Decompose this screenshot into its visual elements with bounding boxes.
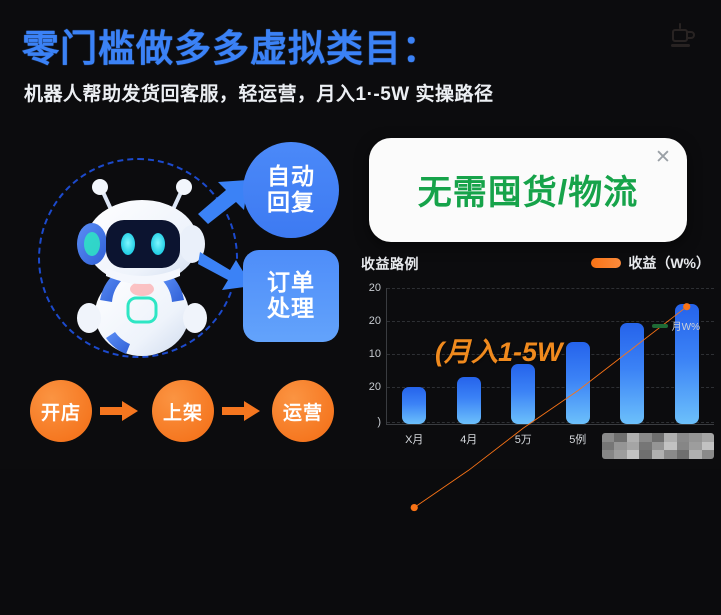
callout-order-line1: 订单: [267, 270, 315, 296]
flow-step-open-shop[interactable]: 开店: [30, 380, 92, 442]
callout-auto-reply-line2: 回复: [267, 190, 315, 216]
censored-mosaic-block: [602, 433, 714, 459]
poster-canvas: 零门槛做多多虚拟类目： 机器人帮助发货回客服，轻运营，月入1·-5W 实操路径: [0, 0, 721, 469]
arrow-right-icon: [222, 399, 262, 423]
mosaic-tile: [652, 442, 664, 451]
x-axis-tick-label: X月: [405, 431, 423, 447]
mosaic-tile: [652, 433, 664, 442]
callout-auto-reply[interactable]: 自动 回复: [243, 142, 339, 238]
x-axis-tick-label: 5例: [569, 431, 586, 447]
endpoint-dash-marker: [652, 324, 668, 328]
mosaic-tile: [677, 450, 689, 459]
flow-step-open-shop-label: 开店: [41, 398, 81, 425]
flow-step-list-product[interactable]: 上架: [152, 380, 214, 442]
callout-order-line2: 处理: [267, 296, 315, 322]
chart-plot-area: 20201020) X月4月5万5例变现 (月入1-5W 月W%: [386, 288, 714, 425]
mosaic-tile: [664, 433, 676, 442]
flow-step-operate[interactable]: 运营: [272, 380, 334, 442]
page-subtitle: 机器人帮助发货回客服，轻运营，月入1·-5W 实操路径: [24, 79, 494, 106]
mosaic-tile: [602, 450, 614, 459]
mosaic-tile: [664, 442, 676, 451]
mosaic-tile: [614, 442, 626, 451]
endpoint-annotation-text: 月W%: [672, 318, 700, 333]
page-title: 零门槛做多多虚拟类目：: [22, 18, 440, 72]
y-axis-tick-label: 20: [369, 315, 381, 327]
callout-order-processing[interactable]: 订单 处理: [243, 250, 339, 342]
mosaic-tile: [677, 442, 689, 451]
close-icon[interactable]: ✕: [652, 146, 674, 168]
legend-label-revenue: 收益（W%）: [628, 253, 710, 273]
chart-annotation-income: (月入1-5W: [435, 330, 563, 369]
mosaic-tile: [702, 450, 714, 459]
x-axis-tick-label: 5万: [515, 431, 532, 447]
promo-card: 无需囤货/物流 ✕: [369, 138, 687, 242]
y-axis-tick-label: 10: [369, 348, 381, 360]
legend-swatch-revenue: [591, 258, 621, 268]
mosaic-tile: [627, 433, 639, 442]
mosaic-tile: [702, 442, 714, 451]
mosaic-tile: [614, 450, 626, 459]
y-axis-tick-label: 20: [369, 381, 381, 393]
mosaic-tile: [602, 433, 614, 442]
chart-title: 收益路例: [361, 254, 419, 274]
mosaic-tile: [639, 433, 651, 442]
chart-endpoint-annotation: 月W%: [652, 318, 700, 333]
mosaic-tile: [652, 450, 664, 459]
promo-card-text: 无需囤货/物流: [369, 165, 687, 214]
mosaic-tile: [689, 450, 701, 459]
trend-point: [411, 504, 418, 511]
mosaic-tile: [677, 433, 689, 442]
coffee-cup-icon: [665, 20, 699, 54]
mosaic-tile: [702, 433, 714, 442]
flow-step-list-product-label: 上架: [163, 398, 203, 425]
mosaic-tile: [627, 442, 639, 451]
mosaic-tile: [664, 450, 676, 459]
mosaic-tile: [614, 433, 626, 442]
mosaic-tile: [639, 450, 651, 459]
flow-step-operate-label: 运营: [283, 398, 323, 425]
trend-point: [683, 303, 690, 310]
mosaic-tile: [689, 433, 701, 442]
chart-legend: 收益（W%）: [591, 253, 710, 273]
x-axis-tick-label: 4月: [460, 431, 477, 447]
y-axis-tick-label: 20: [369, 282, 381, 294]
callout-auto-reply-line1: 自动: [267, 164, 315, 190]
mosaic-tile: [627, 450, 639, 459]
mosaic-tile: [602, 442, 614, 451]
mosaic-tile: [689, 442, 701, 451]
y-axis-tick-label: ): [377, 416, 381, 428]
arrow-right-icon: [100, 399, 140, 423]
mosaic-tile: [639, 442, 651, 451]
